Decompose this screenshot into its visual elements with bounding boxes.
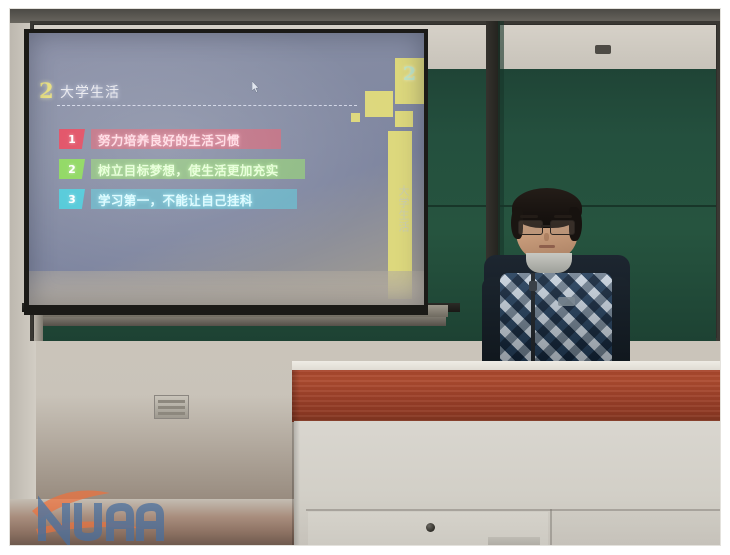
nose xyxy=(544,233,549,241)
eyebrow-right xyxy=(554,215,572,218)
vest-brand-tag xyxy=(558,297,575,306)
mouth xyxy=(539,245,555,248)
podium-slot xyxy=(488,537,540,545)
podium-lock-icon xyxy=(426,523,435,532)
podium-wooden-panel xyxy=(292,370,720,422)
projection-screen: 2 大学生活 1 努力培养良好的生活习惯 2 树立目标梦想，使生活更加充实 3 … xyxy=(29,33,424,305)
checkered-vest xyxy=(500,273,612,371)
student-presenter xyxy=(476,185,636,371)
wood-grain xyxy=(292,370,720,422)
podium-left-shadow xyxy=(292,370,300,545)
lectern-podium xyxy=(292,361,720,545)
wall-mounted-box xyxy=(154,395,189,419)
chalk-tray-rail-lower xyxy=(38,317,446,326)
photo-frame: 2 大学生活 1 努力培养良好的生活习惯 2 树立目标梦想，使生活更加充实 3 … xyxy=(0,0,730,555)
podium-divider-seam xyxy=(550,509,552,545)
glasses-icon xyxy=(517,220,577,233)
glasses-bridge xyxy=(541,225,551,227)
eyebrow-left xyxy=(520,215,538,218)
nuaa-watermark-logo xyxy=(26,485,186,545)
vest-zipper-pull xyxy=(529,281,537,291)
podium-drawer-seam xyxy=(306,509,720,511)
glasses-lens-right xyxy=(550,220,575,235)
vest-shading xyxy=(500,273,612,371)
glasses-lens-left xyxy=(518,220,543,235)
blackboard-clip xyxy=(595,45,611,54)
screen-vignette xyxy=(29,33,424,305)
photograph: 2 大学生活 1 努力培养良好的生活习惯 2 树立目标梦想，使生活更加充实 3 … xyxy=(10,9,720,545)
shirt-collar xyxy=(526,253,572,273)
